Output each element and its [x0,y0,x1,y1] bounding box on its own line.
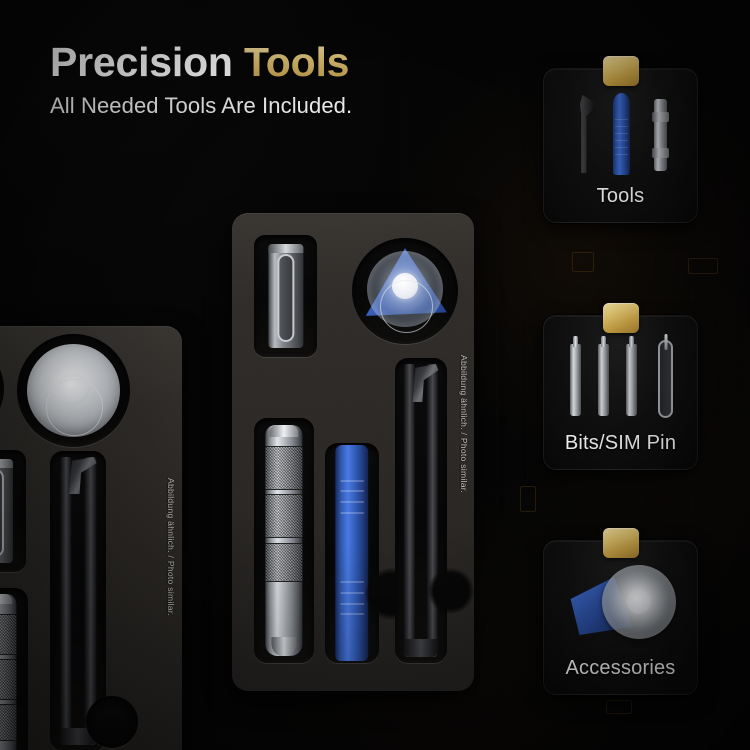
card-artwork-tools [544,83,697,177]
tweezer-arm [427,364,438,657]
tweezer-arm [404,364,415,657]
spudger-grip-rib [340,613,364,615]
tray-slot-tweezers [395,358,447,663]
handle-cap [270,425,298,437]
left-tool-tray: Abbildung ähnlich. / Photo similar. [0,326,182,750]
suction-cup-icon [602,565,676,639]
tweezers [58,457,97,745]
sim-ejector-pin [268,244,303,349]
tweezer-arm [60,457,72,745]
handle-knurl-band [265,446,302,490]
tray-slot-suction-cup [17,334,130,447]
sim-ejector-pin-icon [658,340,673,418]
center-tool-tray: Abbildung ähnlich. / Photo similar. [232,213,474,691]
spudger-grip-rib [340,490,364,492]
tray-slot-suction-cup [352,238,458,344]
handle-knurl-band [0,614,17,655]
card-tab-icon [603,56,639,86]
tray-slot-sim-pin [0,450,26,572]
page-title-accent: Tools [244,39,349,85]
bit-icon [570,344,581,416]
handle-knurl-band [265,494,302,538]
tweezers-icon [574,95,594,173]
feature-card-accessories[interactable]: Accessories [543,540,698,695]
handle-knurl-band [0,704,17,741]
background-chip-motif [688,258,718,274]
tray-slot-spudger [325,443,379,663]
bit-icon [626,344,637,416]
spudger-grip-rib [340,603,364,605]
screwdriver-handle [265,425,302,655]
card-tab-icon [603,528,639,558]
card-tab-icon [603,303,639,333]
background-chip-motif [606,700,632,714]
tray-finger-notch [428,568,474,614]
tray-slot-sim-pin [254,235,317,357]
spudger-grip-rib [340,592,364,594]
spudger-grip-rib [340,501,364,503]
card-artwork-accessories [544,555,697,649]
page-title: Precision Tools [50,42,349,83]
tweezers [403,364,439,657]
tray-disclaimer-note: Abbildung ähnlich. / Photo similar. [459,355,469,493]
spudger-icon [613,93,630,175]
spudger-grip-rib [340,581,364,583]
tray-disclaimer-note: Abbildung ähnlich. / Photo similar. [166,478,176,616]
tweezer-joint [405,639,437,657]
screwdriver-handle [0,594,17,750]
spudger-grip-rib [340,480,364,482]
feature-card-bits-sim-pin[interactable]: Bits/SIM Pin [543,315,698,470]
card-artwork-bits [544,330,697,424]
page-title-primary: Precision [50,39,244,85]
suction-cup-ring [46,379,103,436]
handle-knurl-band [0,659,17,700]
bit-driver-icon [654,99,667,171]
spudger-grip-rib [340,512,364,514]
sim-ejector-pin [0,459,13,564]
background-chip-motif [572,252,594,272]
tray-slot-screwdriver [254,418,314,663]
blue-spudger [335,445,368,661]
feature-card-label: Bits/SIM Pin [544,432,697,455]
handle-knurl-band [265,543,302,582]
background-chip-motif [520,486,536,512]
tray-slot-screwdriver [0,588,28,750]
handle-cap [0,594,12,604]
tray-finger-notch [86,696,138,748]
product-feature-image: Precision Tools All Needed Tools Are Inc… [0,0,750,750]
feature-card-label: Tools [544,185,697,208]
suction-cup-ring [380,280,433,333]
feature-card-label: Accessories [544,657,697,680]
feature-card-tools[interactable]: Tools [543,68,698,223]
bit-icon [598,344,609,416]
page-subtitle: All Needed Tools Are Included. [50,93,352,119]
handle-tip [271,637,296,655]
